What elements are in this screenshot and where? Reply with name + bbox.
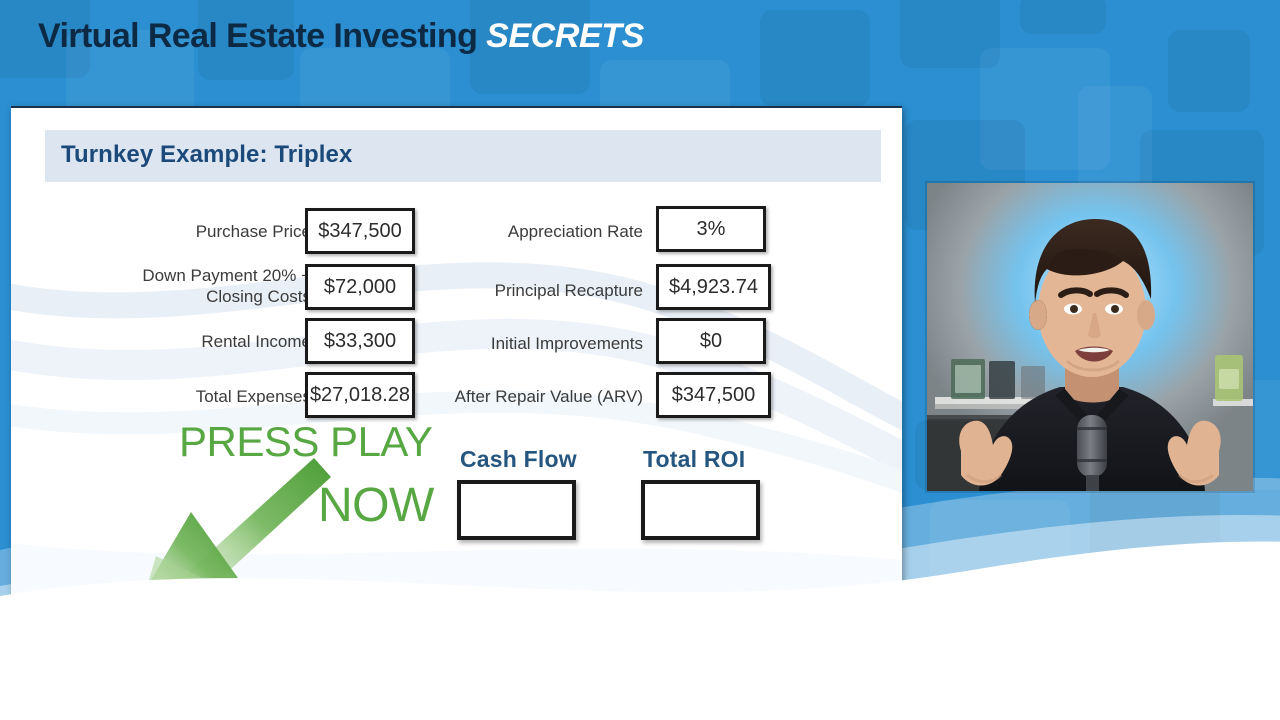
arrow-down-left-icon xyxy=(128,452,338,622)
field-value-appreciation-rate[interactable]: 3% xyxy=(656,206,766,252)
page-title: Virtual Real Estate Investing SECRETS xyxy=(38,14,644,58)
result-label-total-roi: Total ROI xyxy=(643,446,745,473)
background-square xyxy=(760,10,870,106)
presenter-webcam-video[interactable] xyxy=(927,183,1253,491)
background-square xyxy=(930,500,1070,620)
field-label-after-repair-value: After Repair Value (ARV) xyxy=(391,386,643,407)
field-value-down-payment[interactable]: $72,000 xyxy=(305,264,415,310)
background-square xyxy=(1078,86,1152,194)
background-square xyxy=(1020,0,1106,34)
field-label-initial-improvements: Initial Improvements xyxy=(423,333,643,354)
field-value-purchase-price[interactable]: $347,500 xyxy=(305,208,415,254)
page-title-main: Virtual Real Estate Investing xyxy=(38,17,477,55)
field-label-down-payment-line1: Down Payment 20% + xyxy=(71,265,311,286)
press-play-text: PRESS PLAY xyxy=(179,418,432,466)
field-label-down-payment: Down Payment 20% + Closing Costs xyxy=(71,265,311,307)
field-label-purchase-price: Purchase Price xyxy=(91,221,311,242)
field-label-principal-recapture: Principal Recapture xyxy=(431,280,643,301)
field-label-appreciation-rate: Appreciation Rate xyxy=(431,221,643,242)
section-banner: Turnkey Example: Triplex xyxy=(45,130,881,182)
section-banner-title: Turnkey Example: Triplex xyxy=(61,141,352,169)
result-box-total-roi[interactable] xyxy=(641,480,760,540)
result-label-cash-flow: Cash Flow xyxy=(460,446,577,473)
slide-presentation-screen: Virtual Real Estate Investing SECRETS Tu… xyxy=(0,0,1280,720)
field-label-total-expenses: Total Expenses xyxy=(91,386,311,407)
field-value-rental-income[interactable]: $33,300 xyxy=(305,318,415,364)
field-label-rental-income: Rental Income xyxy=(91,331,311,352)
field-value-initial-improvements[interactable]: $0 xyxy=(656,318,766,364)
field-label-down-payment-line2: Closing Costs xyxy=(71,286,311,307)
background-square xyxy=(1168,30,1250,112)
result-box-cash-flow[interactable] xyxy=(457,480,576,540)
field-value-after-repair-value[interactable]: $347,500 xyxy=(656,372,771,418)
now-text: NOW xyxy=(318,478,434,533)
page-title-accent: SECRETS xyxy=(486,17,644,55)
field-value-principal-recapture[interactable]: $4,923.74 xyxy=(656,264,771,310)
